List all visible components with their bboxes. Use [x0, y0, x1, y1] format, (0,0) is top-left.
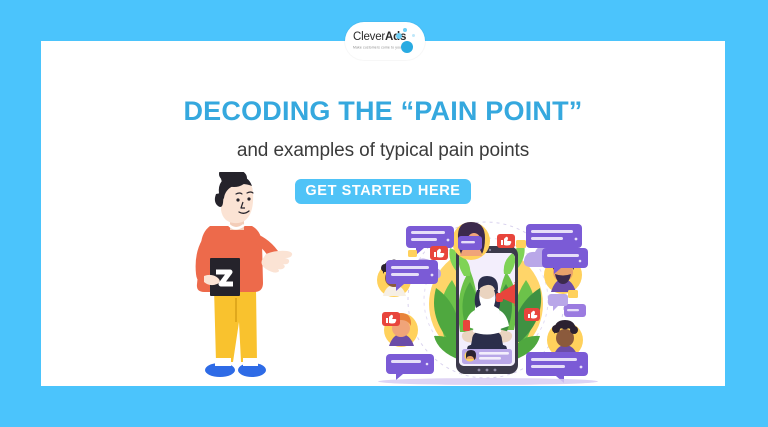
page-title: DECODING THE “PAIN POINT”: [41, 96, 725, 127]
woman-pointing-illustration: [186, 172, 296, 388]
note-icon-2: [516, 240, 526, 248]
promo-banner: CleverAds Make customers come to you DEC…: [0, 0, 768, 427]
cleverads-logo[interactable]: CleverAds Make customers come to you: [345, 22, 425, 60]
note-icon-1: [408, 250, 417, 257]
chat-bubble-8: [564, 304, 586, 317]
like-badge-1: [430, 246, 448, 260]
chat-bubble-7: [458, 236, 482, 250]
logo-name-light: Clever: [353, 31, 385, 43]
note-icon-3: [568, 290, 578, 298]
get-started-button[interactable]: GET STARTED HERE: [295, 179, 471, 204]
smartphone-mockup: [456, 246, 520, 374]
like-badge-4: [524, 308, 540, 321]
bubbles-icon: [394, 27, 420, 55]
chat-bubble-5: [386, 354, 434, 380]
page-subtitle: and examples of typical pain points: [41, 140, 725, 162]
ground-shadow: [378, 378, 598, 385]
like-badge-2: [497, 234, 515, 248]
social-media-influencer-illustration: [368, 212, 604, 388]
like-badge-3: [382, 312, 400, 326]
